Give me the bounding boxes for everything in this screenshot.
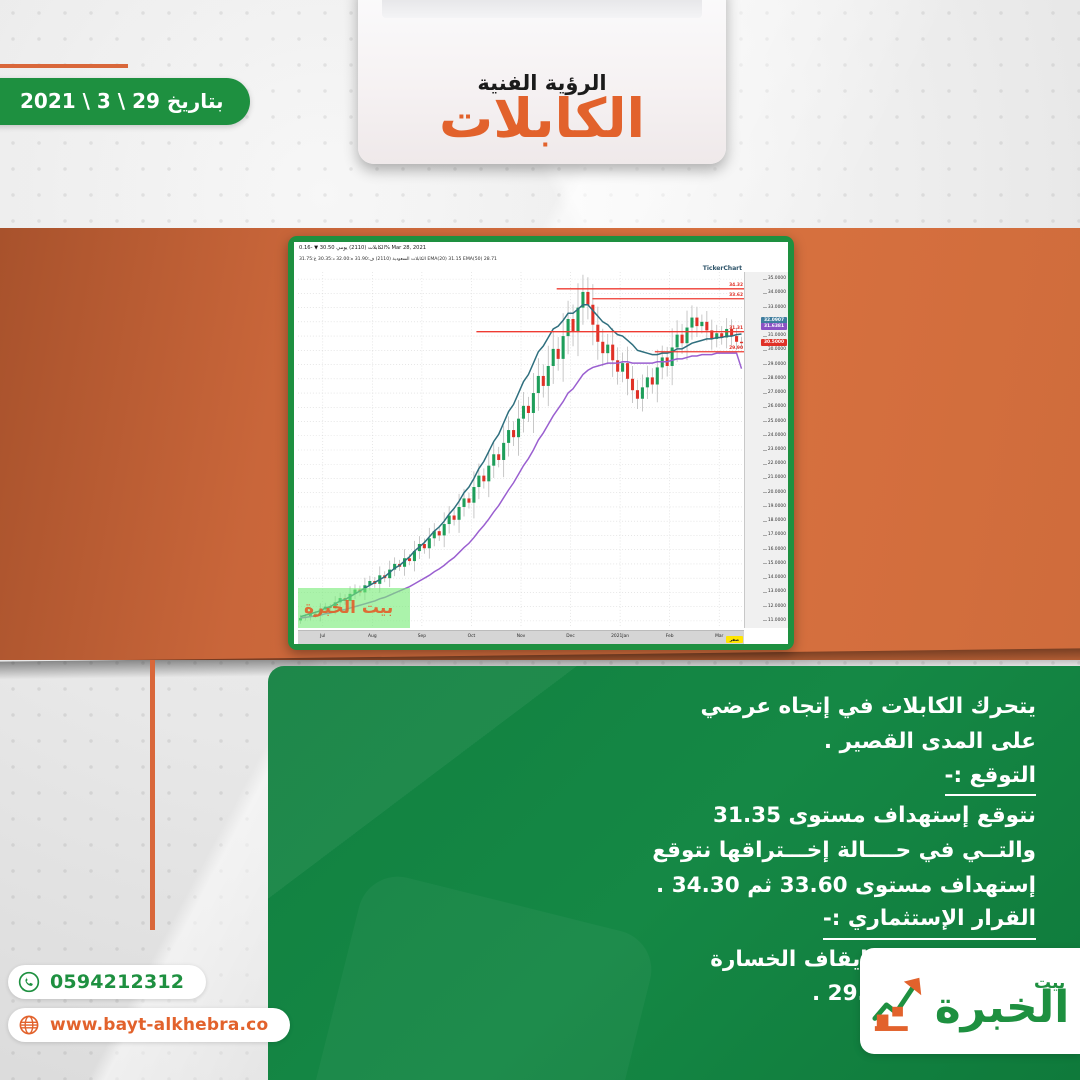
price-tick: 17.0000 — [768, 532, 786, 537]
price-tick: 11.0000 — [768, 618, 786, 623]
forecast-heading-wrap: التوقع :- — [308, 760, 1036, 799]
resistance-label: 34.32 — [729, 283, 743, 288]
decision-heading: القرار الإستثماري :- — [823, 903, 1036, 939]
globe-icon — [18, 1014, 40, 1036]
whatsapp-number: 0594212312 — [50, 971, 184, 993]
website-pill[interactable]: www.bayt-alkhebra.co — [8, 1008, 290, 1042]
title-card: الرؤية الفنية الكابلات — [358, 0, 726, 164]
brand-logo-main: الخبرة — [935, 986, 1070, 1030]
price-tick: 23.0000 — [768, 447, 786, 452]
tickerchart-watermark: TickerChart — [703, 265, 742, 272]
analysis-line-1: يتحرك الكابلات في إتجاه عرضي — [308, 690, 1036, 725]
price-tick: 31.0000 — [768, 333, 786, 338]
analysis-line-4: والتــي في حــــالة إخـــتراقها نتوقع — [308, 834, 1036, 869]
price-tick: 16.0000 — [768, 547, 786, 552]
brand-logo-card: بيت الخبرة — [860, 948, 1080, 1054]
orange-accent-bar — [150, 660, 155, 930]
brand-logo-text: بيت الخبرة — [935, 973, 1070, 1030]
whatsapp-icon — [18, 971, 40, 993]
chart-ohlc-line: الكابلات السعودية (2110) ف:31.90 ه:32.00… — [299, 257, 497, 262]
time-tick: Oct — [468, 634, 476, 639]
analysis-line-5: إستهداف مستوى 33.60 ثم 34.30 . — [308, 869, 1036, 904]
price-tick: 27.0000 — [768, 390, 786, 395]
analysis-line-2: على المدى القصير . — [308, 725, 1036, 760]
time-tick: Aug — [368, 634, 377, 639]
resistance-label: 33.62 — [729, 293, 743, 298]
price-tick: 20.0000 — [768, 490, 786, 495]
price-tick: 19.0000 — [768, 504, 786, 509]
price-axis: 35.000034.000033.000032.000031.000030.00… — [744, 272, 788, 628]
time-tick: Jul — [320, 634, 325, 639]
time-tick: Feb — [666, 634, 674, 639]
chart-watermark: بيت الخبرة — [298, 588, 410, 628]
chart-watermark-text: بيت الخبرة — [304, 598, 393, 618]
price-tick: 29.0000 — [768, 362, 786, 367]
axis-corner-badge: صفر — [726, 636, 743, 643]
price-tick: 22.0000 — [768, 461, 786, 466]
price-tick: 15.0000 — [768, 561, 786, 566]
forecast-heading: التوقع :- — [945, 760, 1036, 796]
date-accent-rule — [0, 64, 128, 68]
plot-area[interactable]: 34.3233.6231.3129.90 — [298, 272, 744, 628]
whatsapp-pill[interactable]: 0594212312 — [8, 965, 206, 999]
price-tick: 35.0000 — [768, 276, 786, 281]
website-url: www.bayt-alkhebra.co — [50, 1015, 268, 1035]
time-tick: Dec — [566, 634, 575, 639]
time-tick: Mar — [715, 634, 723, 639]
price-tick: 25.0000 — [768, 419, 786, 424]
time-tick: Nov — [517, 634, 526, 639]
decision-heading-wrap: القرار الإستثماري :- — [308, 903, 1036, 942]
price-tick: 18.0000 — [768, 518, 786, 523]
growth-arrow-chart-icon — [871, 970, 929, 1032]
analysis-line-3: نتوقع إستهداف مستوى 31.35 — [308, 799, 1036, 834]
time-tick: 2021Jan — [611, 634, 629, 639]
time-tick: Sep — [418, 634, 426, 639]
date-badge: بتاريخ 29 \ 3 \ 2021 — [0, 78, 250, 125]
contact-group: 0594212312 www.bayt-alkhebra.co — [8, 965, 290, 1042]
chart-quote-line: الكابلات (2110) يومي 30.50 ▼ -0.16% Mar … — [299, 245, 426, 251]
price-tag-red: 30.5000 — [761, 339, 787, 346]
chart-canvas[interactable]: الكابلات (2110) يومي 30.50 ▼ -0.16% Mar … — [294, 242, 788, 644]
time-axis: صفر JulAugSepOctNovDec2021JanFebMar — [298, 630, 744, 644]
price-tick: 13.0000 — [768, 589, 786, 594]
price-tag-purple: 31.6381 — [761, 323, 787, 330]
resistance-label: 31.31 — [729, 326, 743, 331]
page-title: الكابلات — [439, 91, 645, 148]
price-tick: 26.0000 — [768, 404, 786, 409]
resistance-label: 29.90 — [729, 346, 743, 351]
price-tick: 34.0000 — [768, 290, 786, 295]
price-tick: 30.0000 — [768, 347, 786, 352]
price-tick: 12.0000 — [768, 604, 786, 609]
chart-frame: الكابلات (2110) يومي 30.50 ▼ -0.16% Mar … — [288, 236, 794, 650]
price-tick: 33.0000 — [768, 305, 786, 310]
grid-horizontal — [298, 272, 744, 628]
price-tick: 24.0000 — [768, 433, 786, 438]
price-tick: 28.0000 — [768, 376, 786, 381]
price-tick: 21.0000 — [768, 475, 786, 480]
price-tick: 14.0000 — [768, 575, 786, 580]
